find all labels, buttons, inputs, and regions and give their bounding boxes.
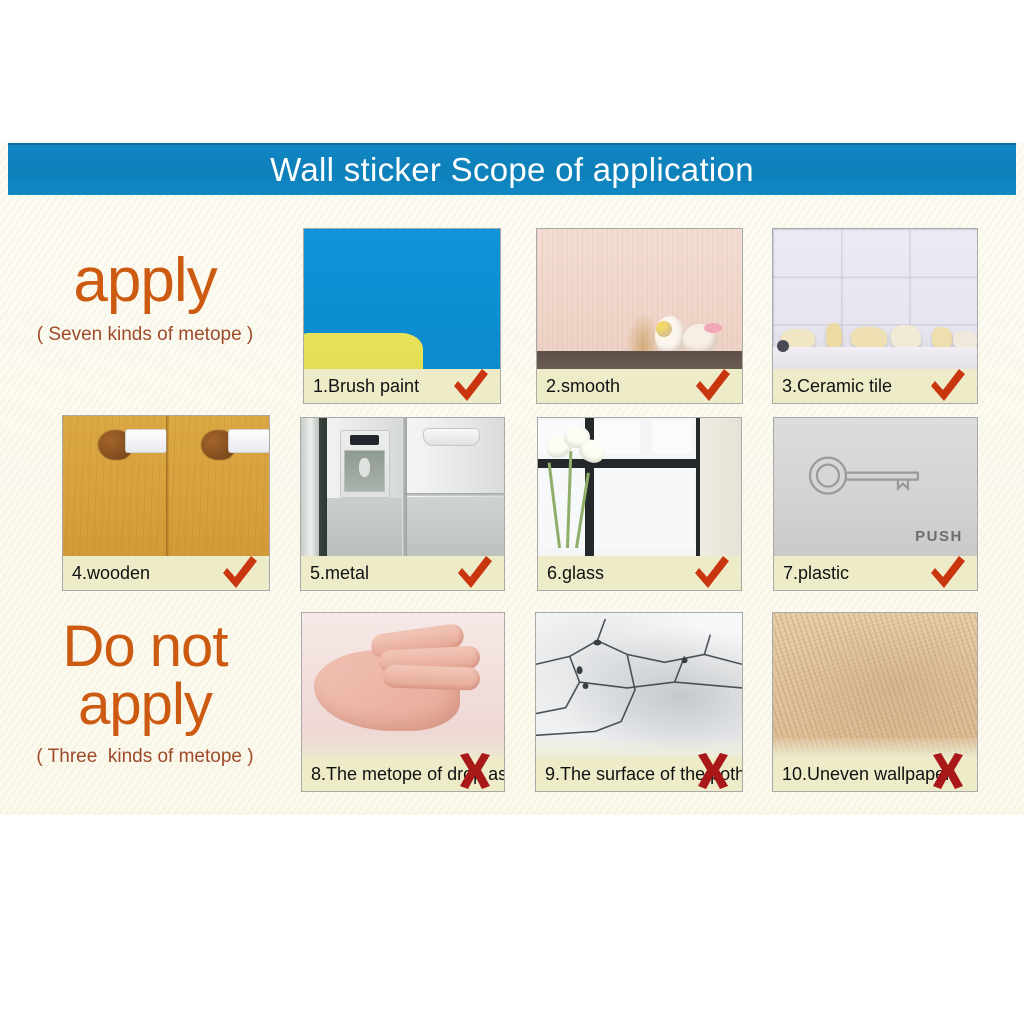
finger	[382, 665, 480, 691]
cell-photo-brush-paint	[304, 229, 500, 369]
cell-caption: 8.The metope of drop ash	[302, 757, 505, 791]
dusty-wall-hand-art	[302, 613, 504, 757]
fridge-handle	[423, 428, 480, 446]
brush-paint-art	[304, 229, 500, 369]
do-not-apply-heading-line1: Do not	[0, 618, 290, 676]
ash-dust	[302, 734, 504, 757]
check-mark-icon	[925, 552, 971, 591]
cell-caption-strip: 2.smooth	[537, 369, 742, 403]
apply-section-label: apply ( Seven kinds of metope )	[0, 250, 290, 348]
poster: Wall sticker Scope of application apply …	[0, 0, 1024, 1024]
wooden-door-art	[63, 416, 269, 556]
check-mark-icon	[452, 552, 498, 591]
apply-heading: apply	[0, 250, 290, 312]
cell-photo-metal	[301, 418, 504, 556]
cell-ceramic-tile: 3.Ceramic tile	[772, 228, 978, 404]
cell-brush-paint: 1.Brush paint	[303, 228, 501, 404]
fridge-seam-line	[407, 493, 504, 496]
cell-photo-potholes	[536, 613, 742, 757]
key-icon	[802, 448, 932, 503]
tile-shelf-items	[773, 316, 977, 350]
cell-drop-ash: 8.The metope of drop ash	[301, 612, 505, 792]
crack-lines	[536, 613, 742, 757]
page-title: Wall sticker Scope of application	[270, 151, 754, 189]
cell-caption-strip: 3.Ceramic tile	[773, 369, 977, 403]
cell-photo-plastic: PUSH	[774, 418, 977, 556]
cell-plastic: PUSH 7.plastic	[773, 417, 978, 591]
cell-caption-strip: 5.metal	[301, 556, 504, 590]
water-dispenser	[340, 430, 391, 498]
cell-potholes: 9.The surface of the potholes	[535, 612, 743, 792]
wall-hook	[125, 429, 167, 453]
check-mark-icon	[689, 552, 735, 591]
dispenser-lever	[359, 458, 370, 477]
fridge-lower-right	[407, 497, 504, 556]
cell-caption: 6.glass	[538, 556, 604, 590]
cell-caption-strip: 10.Uneven wallpaper	[773, 757, 977, 791]
do-not-apply-subheading: ( Three kinds of metope )	[0, 744, 290, 770]
figurine-pink-accent	[704, 323, 722, 333]
uneven-wallpaper-art	[773, 613, 977, 757]
window-pane	[652, 421, 693, 454]
wall-hook	[228, 429, 269, 453]
pale-bottom-band	[536, 737, 742, 757]
cell-caption-strip: 1.Brush paint	[304, 369, 500, 403]
counter	[773, 347, 977, 369]
window-pane	[540, 468, 694, 548]
plastic-panel-art: PUSH	[774, 418, 977, 556]
cell-wooden: 4.wooden	[62, 415, 270, 591]
cell-caption-strip: 7.plastic	[774, 556, 977, 590]
fridge-lower-left	[327, 498, 402, 556]
cell-caption: 5.metal	[301, 556, 369, 590]
cell-metal: 5.metal	[300, 417, 505, 591]
check-mark-icon	[925, 365, 971, 404]
dispenser-recess	[344, 450, 385, 492]
cell-caption-strip: 8.The metope of drop ash	[302, 757, 504, 791]
cell-caption-strip: 9.The surface of the potholes	[536, 757, 742, 791]
cell-photo-drop-ash	[302, 613, 504, 757]
cell-caption-strip: 4.wooden	[63, 556, 269, 590]
glass-window-art	[538, 418, 741, 556]
shelf	[537, 351, 742, 369]
cell-smooth: 2.smooth	[536, 228, 743, 404]
tile-item	[826, 323, 842, 349]
cell-photo-uneven-wallpaper	[773, 613, 977, 757]
do-not-apply-section-label: Do not apply ( Three kinds of metope )	[0, 618, 290, 770]
cell-glass: 6.glass	[537, 417, 742, 591]
fridge-left-edge	[301, 418, 319, 556]
cell-caption: 7.plastic	[774, 556, 849, 590]
check-mark-icon	[217, 552, 263, 591]
cell-caption-strip: 6.glass	[538, 556, 741, 590]
cell-caption: 10.Uneven wallpaper	[773, 757, 951, 791]
wall-edge	[700, 418, 741, 556]
cell-caption: 3.Ceramic tile	[773, 369, 892, 403]
apply-subheading: ( Seven kinds of metope )	[0, 322, 290, 348]
title-bar: Wall sticker Scope of application	[8, 143, 1016, 195]
check-mark-icon	[448, 365, 494, 404]
cell-photo-ceramic-tile	[773, 229, 977, 369]
cracked-wall-art	[536, 613, 742, 757]
push-label: PUSH	[915, 528, 963, 545]
cell-caption: 9.The surface of the potholes	[536, 757, 743, 791]
smooth-wall-art	[537, 229, 742, 369]
cell-photo-smooth	[537, 229, 742, 369]
cell-photo-glass	[538, 418, 741, 556]
pale-bottom-band	[773, 738, 977, 757]
cell-uneven-wallpaper: 10.Uneven wallpaper	[772, 612, 978, 792]
ceramic-tile-art	[773, 229, 977, 369]
check-mark-icon	[690, 365, 736, 404]
metal-fridge-art	[301, 418, 504, 556]
do-not-apply-heading-line2: apply	[0, 676, 290, 734]
cell-caption: 4.wooden	[63, 556, 150, 590]
fridge-dark-gap	[319, 418, 327, 556]
cell-caption: 2.smooth	[537, 369, 620, 403]
door-seam	[166, 416, 169, 556]
cell-caption: 1.Brush paint	[304, 369, 419, 403]
yellow-paint-band	[304, 333, 423, 369]
dispenser-display-panel	[350, 435, 378, 445]
cell-photo-wooden	[63, 416, 269, 556]
